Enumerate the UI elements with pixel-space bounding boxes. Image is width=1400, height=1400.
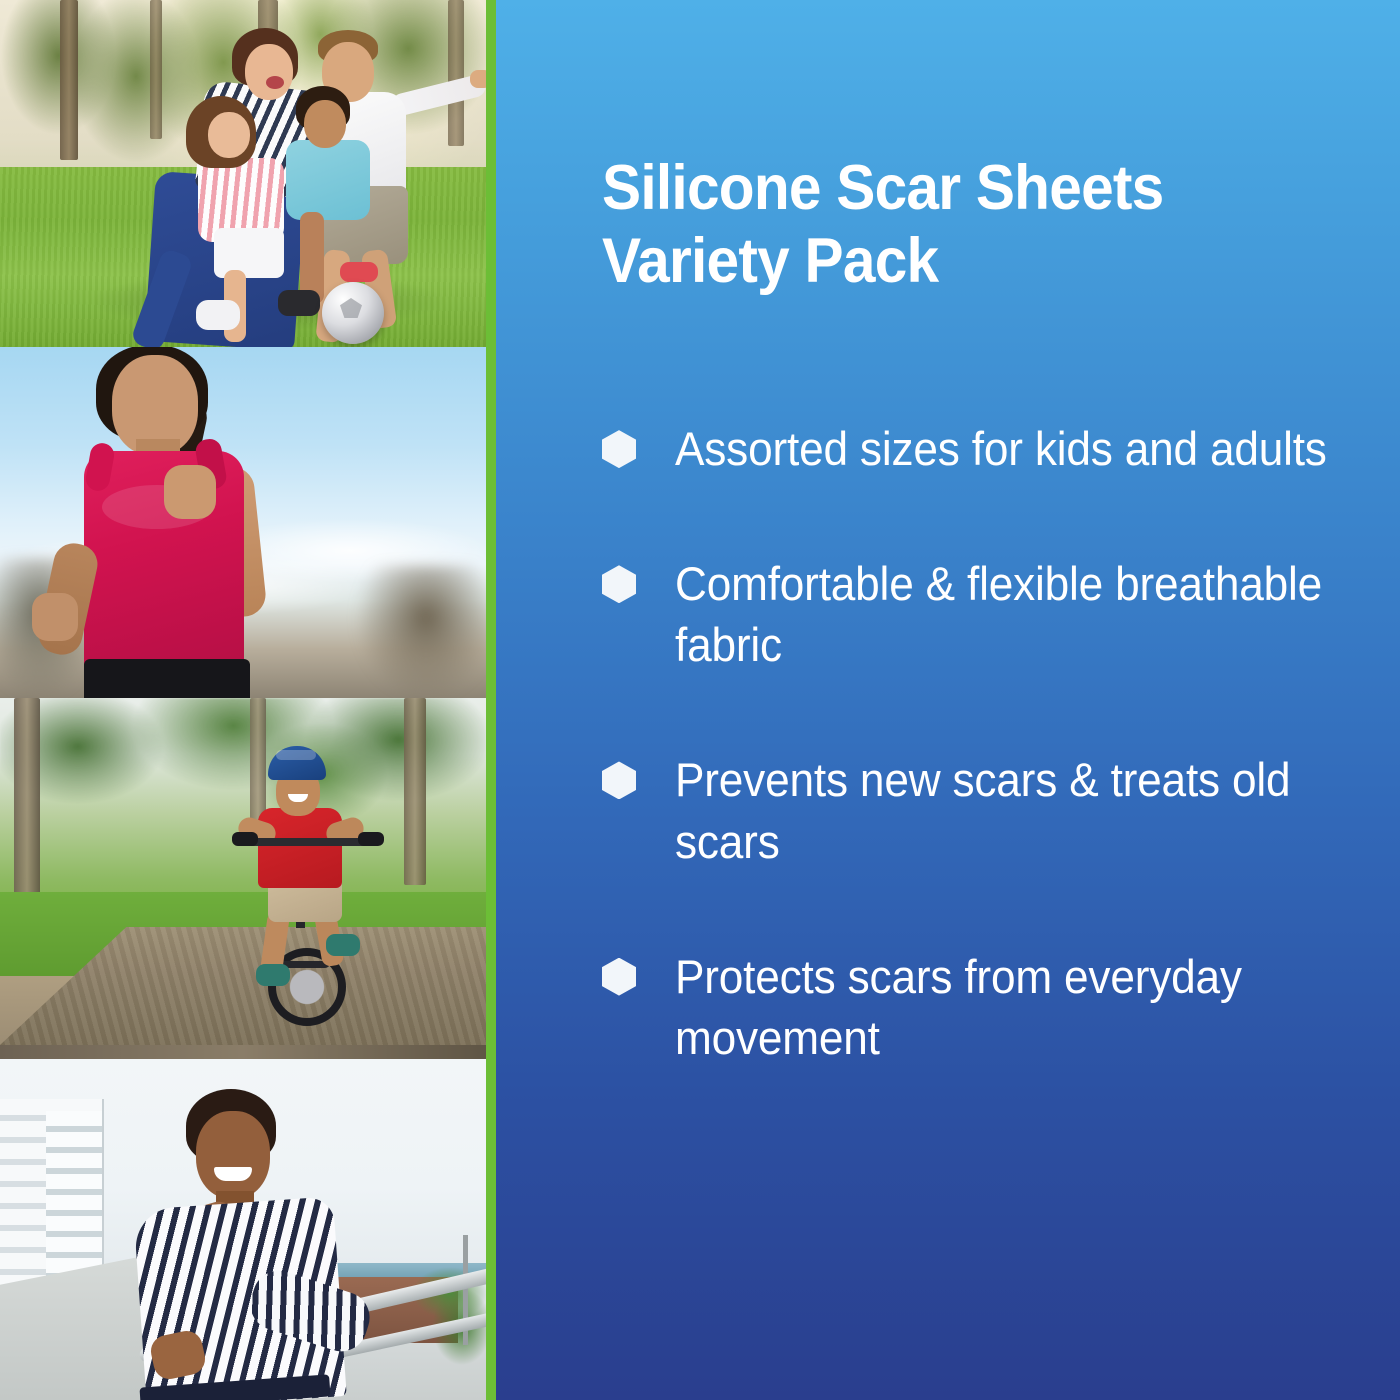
photo-boy-bicycle: [0, 698, 486, 1045]
photo-column: [0, 0, 486, 1400]
mother-head: [245, 44, 293, 100]
product-infographic: Silicone Scar Sheets Variety Pack Assort…: [0, 0, 1400, 1400]
woman-smile: [214, 1167, 252, 1181]
girl-head: [208, 112, 250, 158]
product-title: Silicone Scar Sheets Variety Pack: [602, 152, 1290, 298]
feature-item: Assorted sizes for kids and adults: [602, 418, 1392, 479]
red-sneaker: [340, 262, 378, 282]
blurred-foliage: [356, 565, 486, 698]
handlebar-grip: [358, 832, 384, 846]
bicycle-handlebar: [238, 838, 378, 846]
boy-head: [304, 100, 346, 148]
feature-item: Comfortable & flexible breathable fabric: [602, 553, 1392, 675]
boy-shoe: [256, 964, 290, 986]
photo-woman-railing: [0, 1045, 486, 1400]
girl-shoe: [196, 300, 240, 330]
hexagon-bullet-icon: [602, 958, 636, 996]
runner-fist: [164, 465, 216, 519]
photo-woman-running: [0, 347, 486, 698]
handlebar-grip: [232, 832, 258, 846]
feature-text: Comfortable & flexible breathable fabric: [675, 553, 1349, 675]
tree-trunk: [60, 0, 78, 160]
runner-fist: [32, 593, 78, 641]
tree-trunk: [150, 0, 162, 139]
boy-shoe: [278, 290, 320, 316]
feature-list: Assorted sizes for kids and adults Comfo…: [602, 418, 1392, 1068]
runner-black-shorts: [84, 659, 250, 698]
feature-item: Prevents new scars & treats old scars: [602, 749, 1392, 871]
feature-text: Assorted sizes for kids and adults: [675, 418, 1327, 479]
feature-panel: Silicone Scar Sheets Variety Pack Assort…: [496, 0, 1400, 1400]
feature-text: Prevents new scars & treats old scars: [675, 749, 1349, 871]
hexagon-bullet-icon: [602, 565, 636, 603]
apartment-building: [46, 1111, 102, 1281]
soccer-ball: [322, 282, 384, 344]
mother-mouth: [266, 76, 284, 89]
roof-edge: [0, 1045, 486, 1059]
hexagon-bullet-icon: [602, 430, 636, 468]
girl-shorts: [214, 228, 284, 278]
green-divider: [486, 0, 496, 1400]
tree-trunk: [14, 698, 40, 899]
father-hand: [470, 70, 486, 88]
photo-family-soccer: [0, 0, 486, 347]
tree-trunk: [448, 0, 464, 146]
boy-shoe: [326, 934, 360, 956]
boy-shirt: [286, 140, 370, 220]
feature-item: Protects scars from everyday movement: [602, 946, 1392, 1068]
tree-trunk: [404, 698, 426, 885]
feature-text: Protects scars from everyday movement: [675, 946, 1349, 1068]
boy-red-shirt: [258, 808, 342, 888]
hexagon-bullet-icon: [602, 761, 636, 799]
woman-head: [196, 1111, 270, 1199]
